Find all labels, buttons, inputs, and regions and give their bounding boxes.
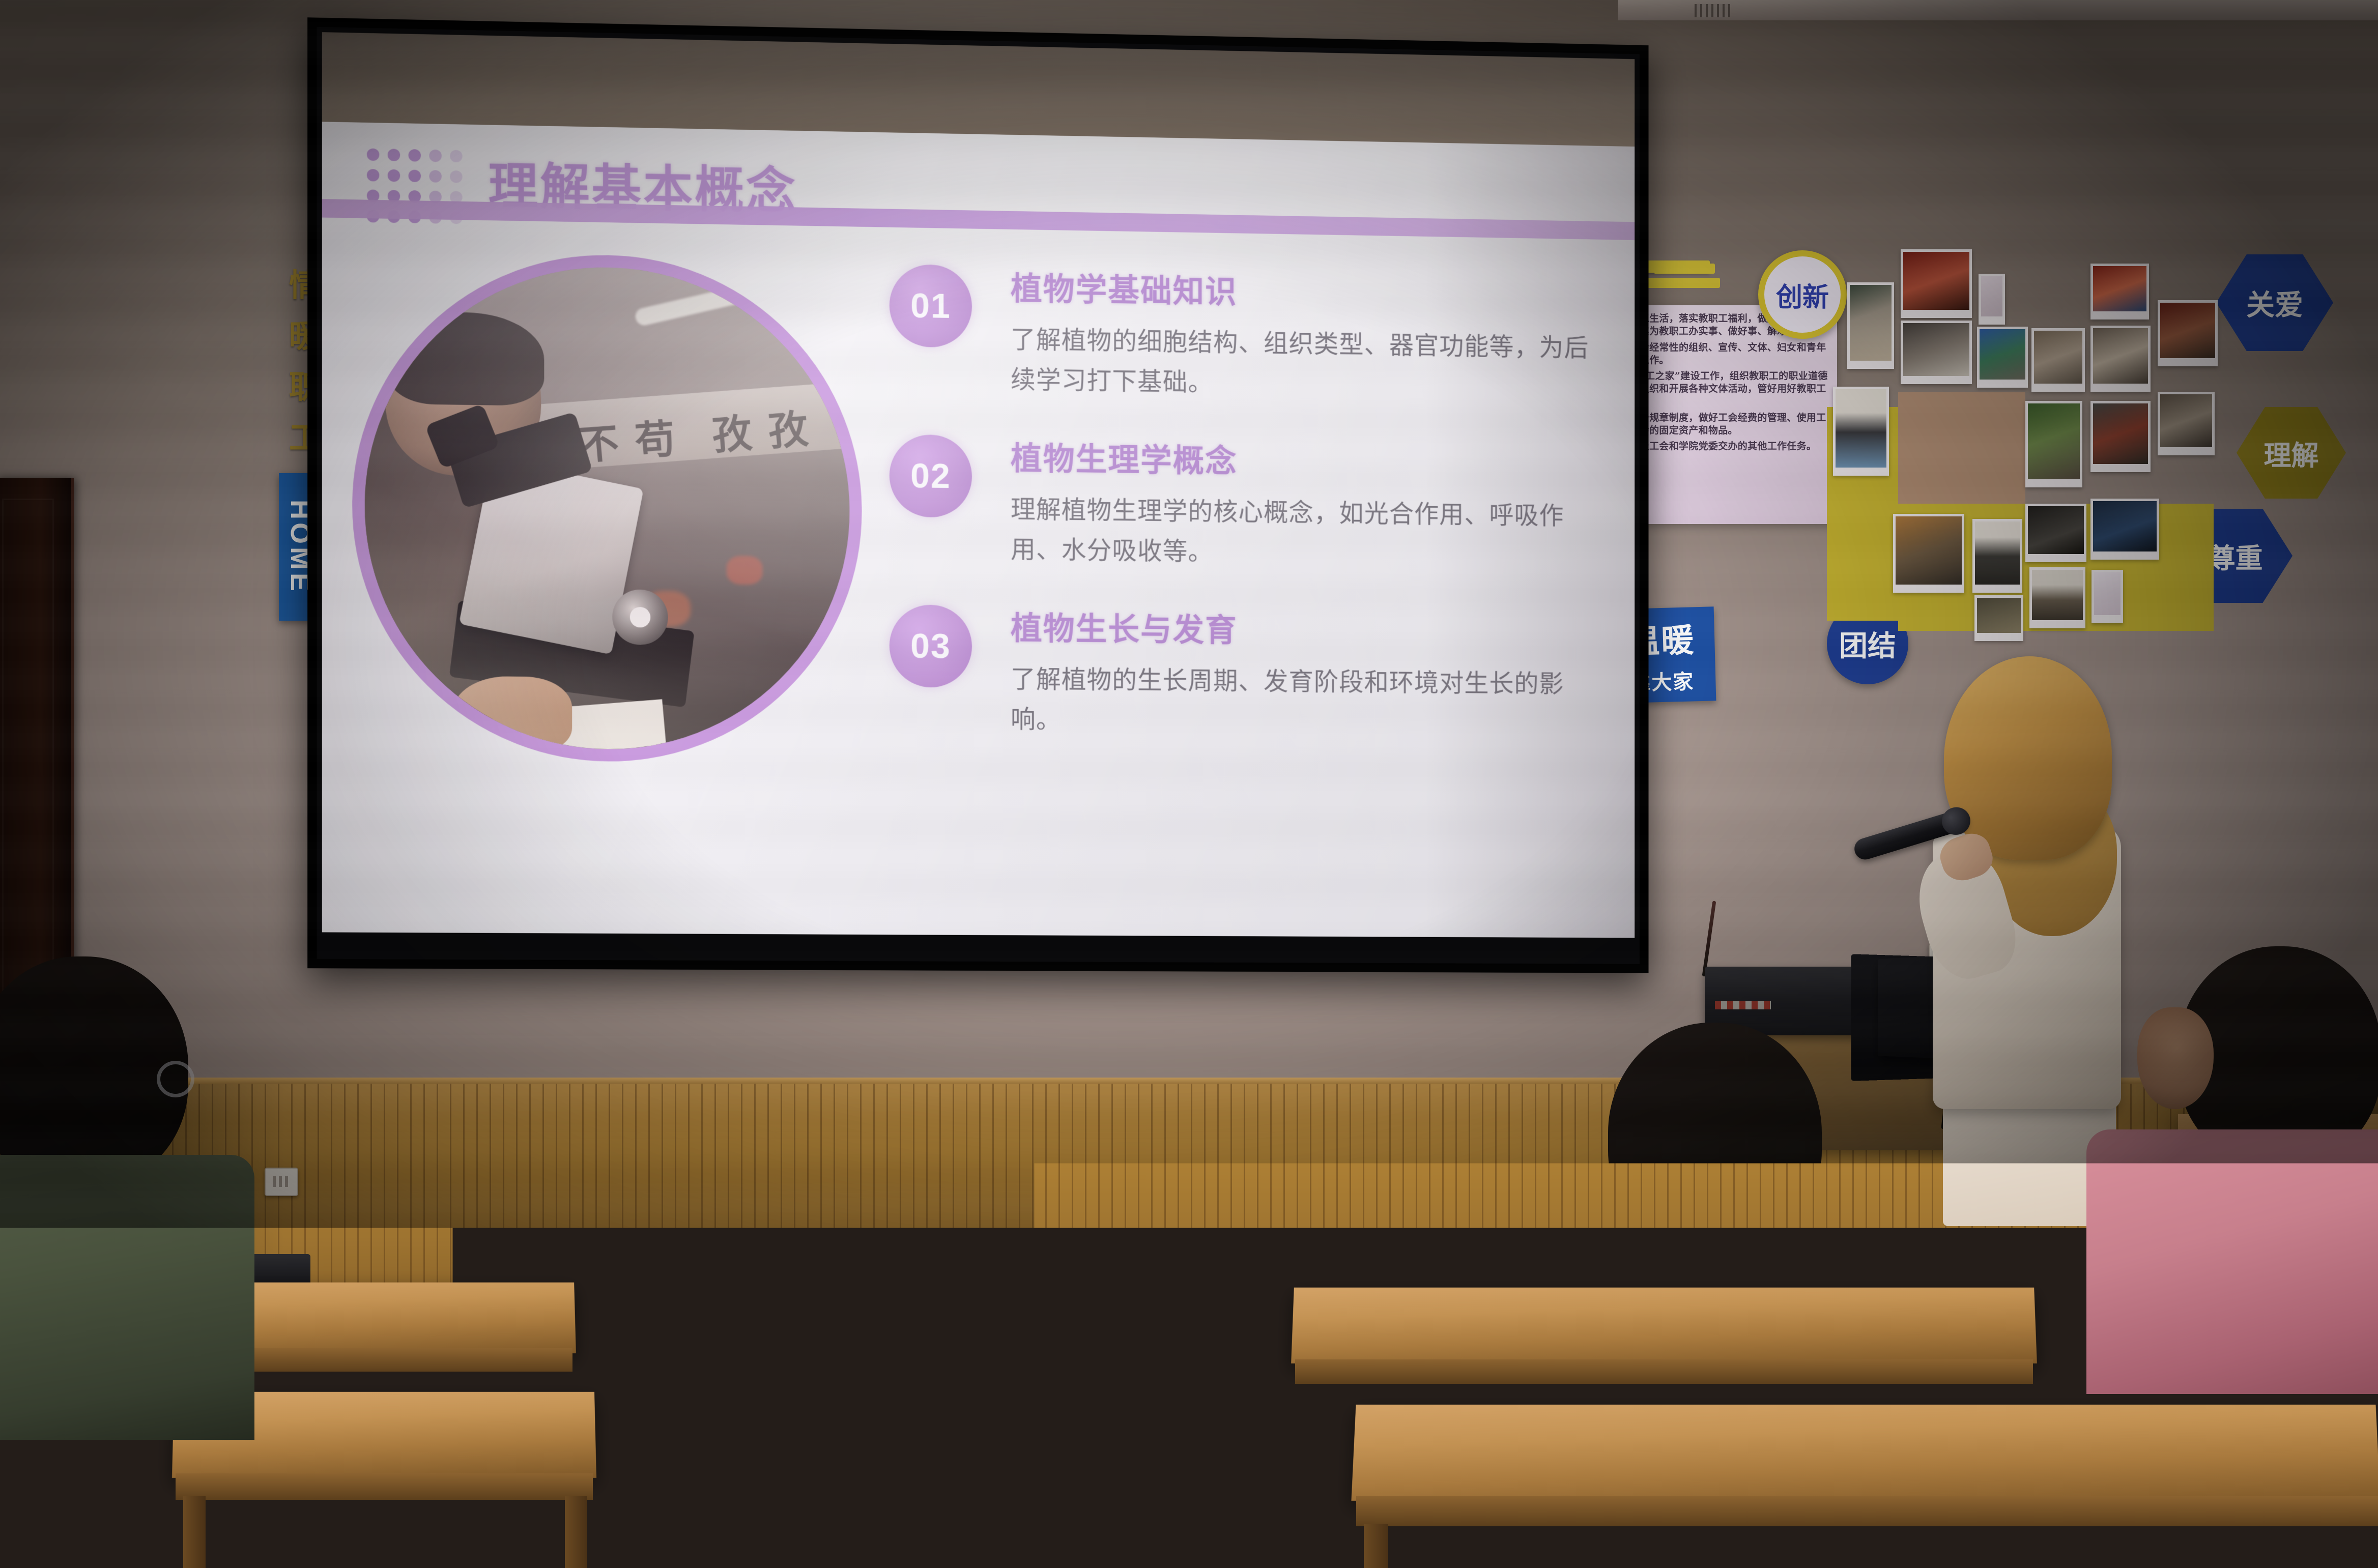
collage-photo <box>1847 282 1894 369</box>
collage-photo <box>1972 519 2022 593</box>
item-number-badge: 02 <box>890 434 972 517</box>
slide-circular-photo: 不 苟 孜 孜 <box>352 251 862 763</box>
slide-item: 02 植物生理学概念 理解植物生理学的核心概念，如光合作用、呼吸作用、水分吸收等… <box>890 431 1610 606</box>
collage-photo <box>2090 264 2149 320</box>
collage-photo <box>2158 392 2215 455</box>
item-description: 了解植物的生长周期、发育阶段和环境对生长的影响。 <box>1011 659 1610 745</box>
collage-photo <box>1901 321 1972 384</box>
slide-item: 03 植物生长与发育 了解植物的生长周期、发育阶段和环境对生长的影响。 <box>890 601 1610 775</box>
collage-photo <box>2090 401 2151 472</box>
item-title: 植物生长与发育 <box>1011 602 1610 654</box>
photo-projection-wash <box>365 264 850 751</box>
student-olive-jacket <box>0 956 305 1568</box>
collage-photo <box>1977 327 2028 388</box>
collage-cork-panel <box>1898 392 2025 504</box>
collage-photo <box>2090 499 2159 560</box>
presenter-hair <box>1944 656 2112 860</box>
collage-photo <box>1901 249 1972 318</box>
student-torso <box>0 1155 254 1440</box>
ceiling-vent-icon <box>1695 4 1730 17</box>
student-white-hoodie <box>1537 1023 1903 1568</box>
item-description: 理解植物生理学的核心概念，如光合作用、呼吸作用、水分吸收等。 <box>1011 490 1610 577</box>
classroom-photo-scene: 情 暖 职 工 HOME 作。关心教职工生活，落实教职工福利，做好教职工帮扶慰问… <box>0 0 2378 1568</box>
collage-photo <box>1979 274 2005 325</box>
collage-photo <box>2158 300 2218 366</box>
slide-item: 01 植物学基础知识 了解植物的细胞结构、组织类型、器官功能等，为后续学习打下基… <box>890 261 1610 439</box>
board-yellow-strip-3 <box>1654 264 1715 274</box>
item-title: 植物生理学概念 <box>1011 433 1610 486</box>
projection-screen: 理解基本概念 不 苟 孜 孜 <box>307 17 1648 973</box>
photo-collage-board <box>1822 239 2224 641</box>
ceiling-strip <box>1618 0 2378 20</box>
item-number-badge: 01 <box>890 264 972 348</box>
student-face <box>2137 1007 2214 1109</box>
item-title: 植物学基础知识 <box>1011 263 1610 318</box>
student-pink-jacket <box>2117 946 2378 1404</box>
student-glasses-icon <box>157 1061 194 1097</box>
slide-item-list: 01 植物学基础知识 了解植物的细胞结构、组织类型、器官功能等，为后续学习打下基… <box>890 259 1610 775</box>
collage-photo <box>2025 504 2086 562</box>
collage-photo <box>2025 401 2082 487</box>
student-torso <box>2086 1129 2378 1394</box>
collage-photo <box>2029 567 2085 628</box>
collage-photo <box>1893 514 1964 593</box>
collage-photo <box>1833 387 1889 476</box>
collage-photo <box>1974 595 2023 641</box>
slide-top-accent-bar <box>322 199 1635 240</box>
collage-photo <box>2090 326 2151 392</box>
collage-photo <box>2031 328 2085 392</box>
presentation-slide: 理解基本概念 不 苟 孜 孜 <box>322 122 1635 938</box>
collage-photo <box>2092 570 2123 623</box>
item-number-badge: 03 <box>890 604 972 688</box>
desk-leg <box>1364 1524 1388 1568</box>
item-description: 了解植物的细胞结构、组织类型、器官功能等，为后续学习打下基础。 <box>1011 320 1610 409</box>
desk-leg <box>565 1496 587 1568</box>
student-torso <box>1516 1216 1883 1501</box>
